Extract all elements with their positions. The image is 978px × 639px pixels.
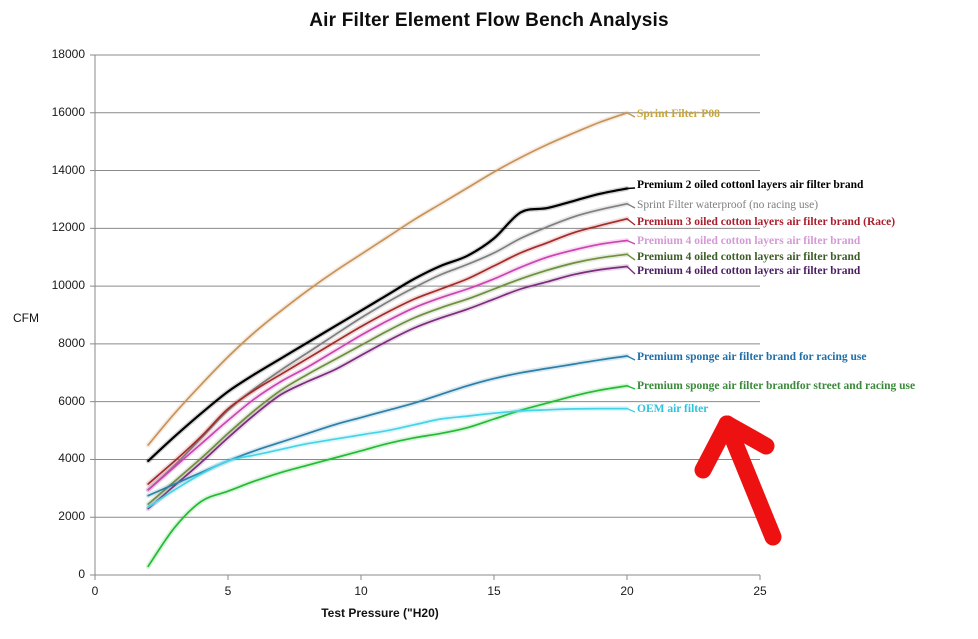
series-label: Premium sponge air filter brandfor stree… [637,381,915,393]
series-label: Premium 2 oiled cottonl layers air filte… [637,180,863,192]
chart-screenshot: Air Filter Element Flow Bench Analysis C… [0,0,978,639]
series-label: Sprint Filter P08 [637,109,720,121]
label-leader-line [627,188,635,189]
series-label: Sprint Filter waterproof (no racing use) [637,200,818,212]
plot-area [0,0,978,639]
series-label: Premium sponge air filter brand for raci… [637,352,866,364]
series-label: Premium 4 oiled cotton layers air filter… [637,236,860,248]
label-leader-lines [627,113,635,412]
label-leader-line [627,254,635,260]
label-leader-line [627,267,635,275]
series-lines [148,113,627,567]
series-label: Premium 4 oiled cotton layers air filter… [637,252,860,264]
label-leader-line [627,219,635,225]
tick-marks [90,55,760,580]
series-label: Premium 3 oiled cotton layers air filter… [637,217,895,229]
series-label: OEM air filter [637,404,708,416]
red-arrow-annotation [703,424,773,537]
series-label: Premium 4 oiled cotton layers air filter… [637,266,860,278]
